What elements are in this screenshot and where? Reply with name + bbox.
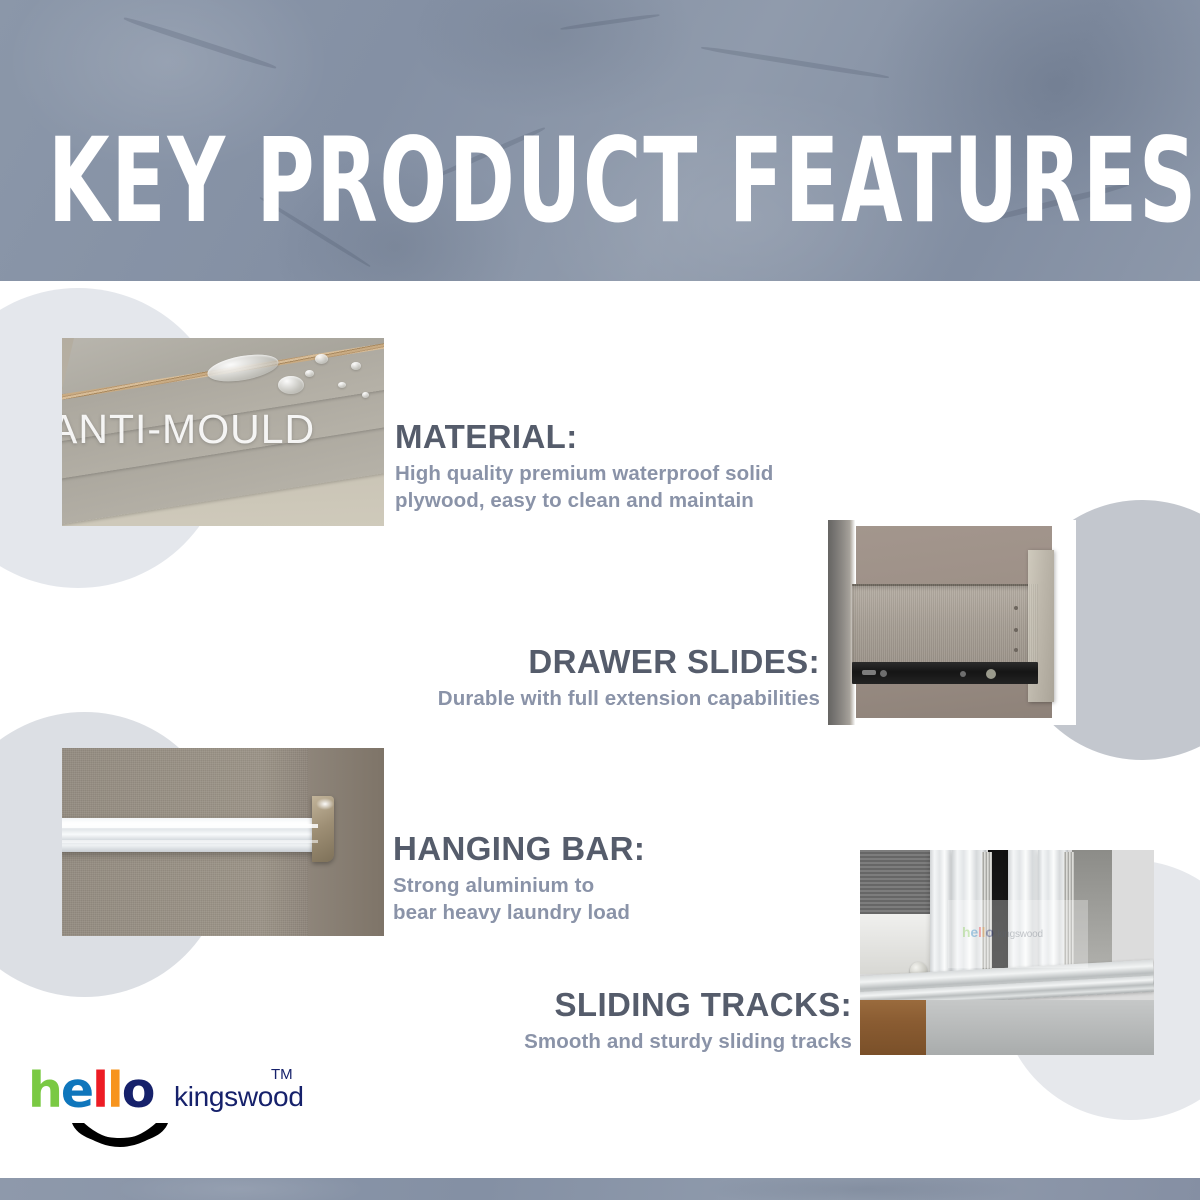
water-droplet: [315, 354, 328, 364]
logo-letter-h: h: [28, 1062, 61, 1119]
cabinet-side-edge: [828, 520, 850, 725]
feature-text-drawer-slides: DRAWER SLIDES: Durable with full extensi…: [322, 643, 820, 713]
feature-body-hanging-bar: Strong aluminium to bear heavy laundry l…: [393, 873, 645, 926]
texture-mark: [560, 13, 660, 31]
texture-mark: [123, 15, 277, 70]
watermark-letter-o: o: [985, 924, 993, 940]
feature-body-line: Strong aluminium to: [393, 873, 645, 900]
drawer-hole: [1014, 606, 1018, 610]
rail-highlight-line: [62, 824, 318, 828]
bracket-highlight: [316, 798, 334, 810]
hello-kingswood-watermark: hello kingswood: [962, 924, 1043, 940]
feature-body-line: plywood, easy to clean and maintain: [395, 488, 773, 515]
watermark-letter-e: e: [970, 924, 978, 940]
footer-band: [0, 1178, 1200, 1200]
feature-body-line: Smooth and sturdy sliding tracks: [402, 1029, 852, 1056]
feature-body-line: bear heavy laundry load: [393, 900, 645, 927]
rail-fixing-hole: [960, 671, 966, 677]
drawer-slides-photo: [828, 520, 1076, 725]
logo-letter-e: e: [61, 1062, 92, 1119]
water-droplet: [351, 362, 361, 370]
sliding-tracks-photo: hello kingswood: [860, 850, 1154, 1055]
feature-title-hanging-bar: HANGING BAR:: [393, 830, 645, 869]
logo-letter-o: o: [122, 1062, 154, 1119]
feature-body-line: Durable with full extension capabilities: [322, 686, 820, 713]
texture-mark: [701, 45, 889, 80]
feature-body-material: High quality premium waterproof solid pl…: [395, 461, 773, 514]
logo-hello-wordmark: hello: [28, 1066, 153, 1115]
rail-screw: [986, 669, 996, 679]
logo-trademark-symbol: TM: [271, 1066, 293, 1083]
logo-smile-icon: [70, 1121, 170, 1159]
rail-fixing-hole: [880, 670, 887, 677]
plywood-sheets-photo: ANTI-MOULD: [62, 338, 384, 526]
logo-letter-l2: l: [107, 1062, 122, 1119]
rail-highlight-line: [62, 840, 318, 843]
poster-root: KEY PRODUCT FEATURES ANTI-MOULD: [0, 0, 1200, 1200]
header-band: KEY PRODUCT FEATURES: [0, 0, 1200, 281]
feature-body-line: High quality premium waterproof solid: [395, 461, 773, 488]
drawer-fabric-texture: [852, 584, 1038, 662]
water-droplet: [338, 382, 346, 388]
brand-logo: hello kingswood TM: [28, 1066, 328, 1162]
page-title: KEY PRODUCT FEATURES: [48, 122, 1152, 239]
louvre-panel: [860, 850, 934, 922]
water-droplet: [278, 376, 304, 394]
anti-mould-overlay-label: ANTI-MOULD: [62, 406, 384, 453]
feature-title-sliding-tracks: SLIDING TRACKS:: [402, 986, 852, 1025]
feature-text-material: MATERIAL: High quality premium waterproo…: [395, 418, 773, 514]
floor-surface: [926, 1000, 1154, 1055]
feature-body-sliding-tracks: Smooth and sturdy sliding tracks: [402, 1029, 852, 1056]
drawer-hole: [1014, 648, 1018, 652]
feature-text-sliding-tracks: SLIDING TRACKS: Smooth and sturdy slidin…: [402, 986, 852, 1056]
water-droplet: [305, 370, 314, 377]
logo-kingswood-wordmark: kingswood: [174, 1081, 304, 1113]
watermark-wordmark: kingswood: [997, 929, 1042, 940]
feature-title-drawer-slides: DRAWER SLIDES:: [322, 643, 820, 682]
feature-title-material: MATERIAL:: [395, 418, 773, 457]
drawer-hole: [1014, 628, 1018, 632]
water-droplet: [362, 392, 369, 398]
feature-body-drawer-slides: Durable with full extension capabilities: [322, 686, 820, 713]
hanging-bar-photo: [62, 748, 384, 936]
feature-text-hanging-bar: HANGING BAR: Strong aluminium to bear he…: [393, 830, 645, 926]
rail-slot: [862, 670, 876, 675]
logo-letter-l1: l: [92, 1062, 107, 1119]
